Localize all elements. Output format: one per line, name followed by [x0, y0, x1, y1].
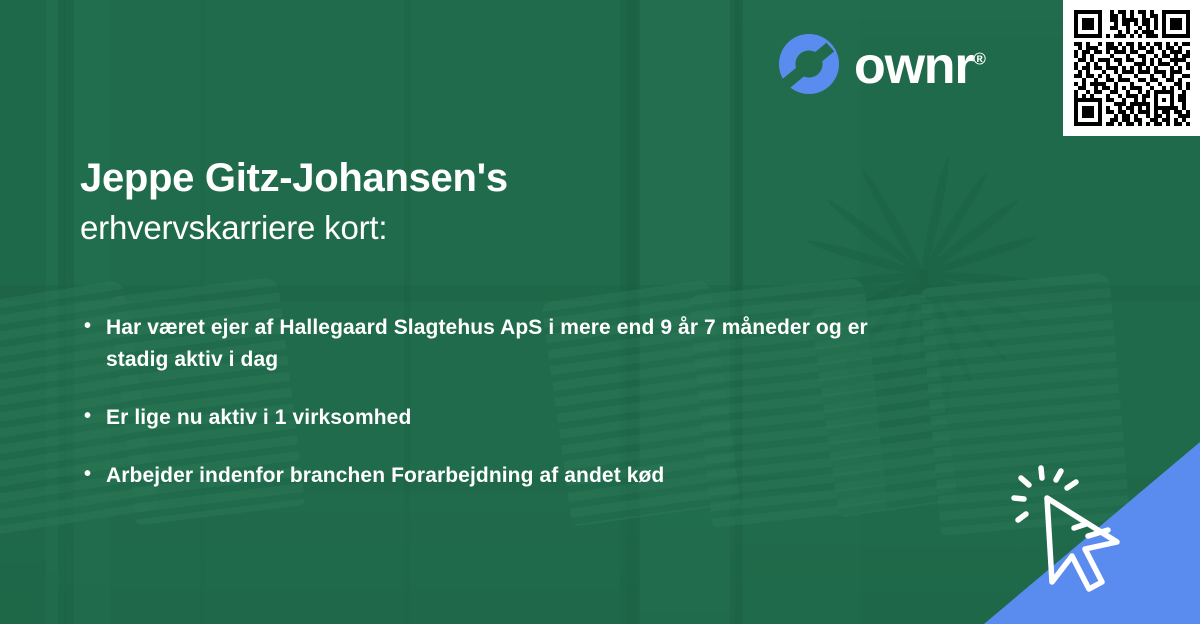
qr-code-panel[interactable]	[1063, 0, 1200, 136]
qr-code-icon	[1074, 10, 1190, 126]
list-item: Har været ejer af Hallegaard Slagtehus A…	[80, 312, 870, 376]
ownr-logo[interactable]: ownr®	[778, 33, 986, 95]
blue-corner-accent	[984, 442, 1200, 624]
logo-word-text: ownr	[854, 37, 973, 95]
career-facts-list: Har været ejer af Hallegaard Slagtehus A…	[80, 312, 870, 492]
click-cursor-icon	[984, 442, 1200, 624]
ownr-circle-logo-icon	[778, 33, 840, 95]
business-career-card: ownr® Jeppe Gitz-Johansen's erhvervskarr…	[0, 0, 1200, 624]
list-item: Er lige nu aktiv i 1 virksomhed	[80, 402, 870, 434]
headline-subtitle: erhvervskarriere kort:	[80, 208, 860, 248]
page-title: Jeppe Gitz-Johansen's erhvervskarriere k…	[80, 155, 860, 248]
headline-person-name: Jeppe Gitz-Johansen's	[80, 155, 860, 202]
registered-trademark-icon: ®	[973, 50, 986, 69]
list-item: Arbejder indenfor branchen Forarbejdning…	[80, 460, 870, 492]
logo-wordmark: ownr®	[854, 40, 986, 92]
